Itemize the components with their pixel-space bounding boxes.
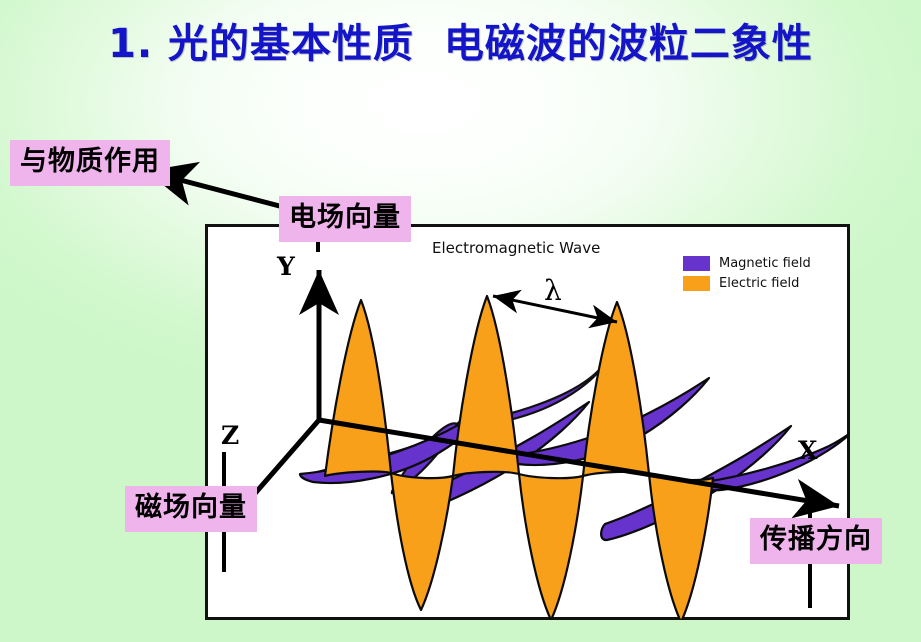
- axis-label-x: X: [798, 436, 817, 465]
- callout-propagation-direction[interactable]: 传播方向: [750, 518, 882, 564]
- legend-swatch-electric-field: [683, 276, 710, 291]
- legend-label-electric-field: Electric field: [719, 276, 799, 291]
- legend-item-electric-field: Electric field: [683, 273, 811, 293]
- slide-canvas: 1. 光的基本性质 电磁波的波粒二象性: [0, 0, 921, 642]
- legend-swatch-magnetic-field: [683, 256, 710, 271]
- callout-interaction[interactable]: 与物质作用: [10, 140, 170, 186]
- axis-label-z: Z: [221, 421, 239, 450]
- callout-magnetic-field-vector[interactable]: 磁场向量: [125, 486, 257, 532]
- page-title: 1. 光的基本性质 电磁波的波粒二象性: [0, 16, 921, 72]
- axis-label-y: Y: [277, 252, 295, 281]
- callout-electric-field-vector[interactable]: 电场向量: [279, 196, 411, 242]
- legend-label-magnetic-field: Magnetic field: [719, 256, 811, 271]
- legend-item-magnetic-field: Magnetic field: [683, 253, 811, 273]
- figure-caption: Electromagnetic Wave: [432, 239, 600, 257]
- wavelength-symbol: λ: [544, 274, 562, 307]
- figure-legend: Magnetic field Electric field: [683, 253, 811, 293]
